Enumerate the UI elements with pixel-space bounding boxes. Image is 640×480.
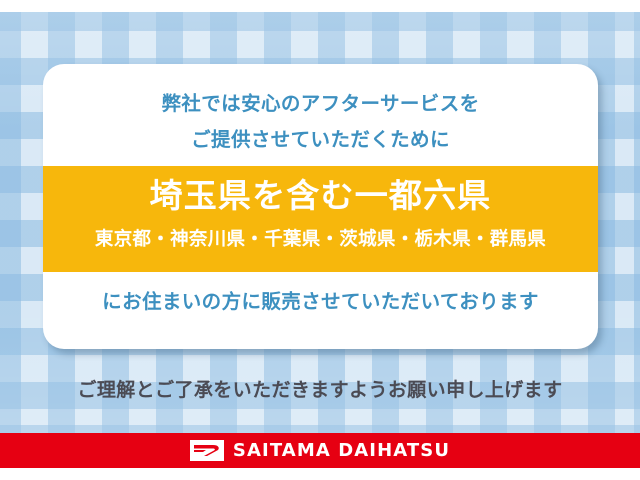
closing-note: ご理解とご了承をいただきますようお願い申し上げます (0, 381, 640, 400)
card-top-text-block: 弊社では安心のアフターサービスを ご提供させていただくために (43, 94, 598, 149)
daihatsu-d-mark-icon (190, 440, 224, 461)
highlight-band-heading: 埼玉県を含む一都六県 (43, 179, 598, 212)
brand-name: SAITAMA DAIHATSU (233, 442, 450, 460)
notice-image: 弊社では安心のアフターサービスを ご提供させていただくために 埼玉県を含む一都六… (0, 0, 640, 480)
card-bottom-line-1: にお住まいの方に販売させていただいております (43, 292, 598, 312)
highlight-band: 埼玉県を含む一都六県 東京都・神奈川県・千葉県・茨城県・栃木県・群馬県 (43, 166, 598, 272)
notice-card: 弊社では安心のアフターサービスを ご提供させていただくために 埼玉県を含む一都六… (43, 64, 598, 349)
card-top-line-2: ご提供させていただくために (43, 130, 598, 150)
card-bottom-text-block: にお住まいの方に販売させていただいております (43, 292, 598, 312)
highlight-band-prefectures: 東京都・神奈川県・千葉県・茨城県・栃木県・群馬県 (43, 231, 598, 250)
card-top-line-1: 弊社では安心のアフターサービスを (43, 94, 598, 114)
brand-footer-bar: SAITAMA DAIHATSU (0, 433, 640, 468)
